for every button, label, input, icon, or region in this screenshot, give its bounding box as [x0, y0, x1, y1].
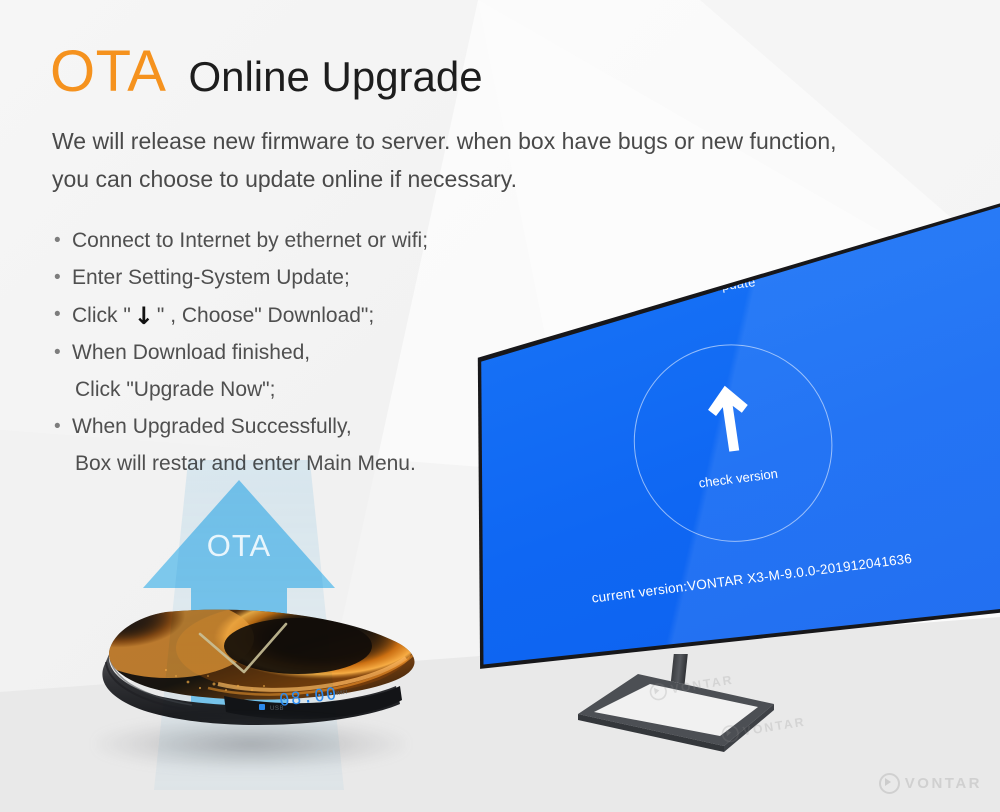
vontar-logo-icon: [720, 724, 740, 744]
system-update-heading: System Update: [460, 249, 958, 326]
bullet-dot: •: [54, 334, 72, 371]
page-title-rest: Online Upgrade: [188, 56, 482, 98]
list-item: • When Download finished, Click "Upgrade…: [54, 334, 524, 408]
list-item: • Connect to Internet by ethernet or wif…: [54, 222, 524, 259]
vontar-logo-icon: [879, 773, 900, 794]
current-version-text: current version:VONTAR X3-M-9.0.0-201912…: [503, 540, 1000, 617]
svg-text:WIFI: WIFI: [336, 690, 349, 697]
tv-box-device: USB 08:00 WIFI: [48, 600, 448, 790]
intro-line-1: We will release new firmware to server. …: [52, 122, 942, 160]
step-suffix: " , Choose" Download";: [157, 304, 374, 327]
tv-screen-content: System Update check version current vers…: [455, 196, 1000, 686]
page-title-accent: OTA: [50, 43, 166, 101]
steps-list: • Connect to Internet by ethernet or wif…: [54, 222, 524, 482]
device-shadow: [96, 718, 406, 770]
ota-arrow-label: OTA: [139, 528, 339, 564]
bullet-dot: •: [54, 408, 72, 445]
vontar-logo-icon: [648, 682, 668, 702]
step-line: Enter Setting-System Update;: [72, 266, 350, 289]
check-version-button[interactable]: check version: [621, 333, 846, 553]
up-arrow-icon: [703, 381, 757, 456]
step-line: Connect to Internet by ethernet or wifi;: [72, 229, 428, 252]
list-item: • Click "↓" , Choose" Download";: [54, 296, 524, 334]
tv-display: System Update check version current vers…: [455, 196, 1000, 686]
bullet-dot: •: [54, 222, 72, 259]
check-version-label: check version: [640, 459, 837, 498]
brand-watermark-text: VONTAR: [905, 775, 982, 792]
brand-watermark: VONTAR: [879, 773, 982, 794]
list-item: • Enter Setting-System Update;: [54, 259, 524, 296]
page-title: OTA Online Upgrade: [50, 43, 483, 101]
list-item: • When Upgraded Successfully, Box will r…: [54, 408, 524, 482]
ota-product-infographic: OTA Online Upgrade We will release new f…: [0, 0, 1000, 812]
bullet-dot: •: [54, 296, 72, 333]
intro-line-2: you can choose to update online if neces…: [52, 160, 942, 198]
bullet-dot: •: [54, 259, 72, 296]
step-prefix: Click ": [72, 304, 131, 327]
intro-paragraph: We will release new firmware to server. …: [52, 122, 942, 198]
download-arrow-icon: ↓: [131, 298, 157, 335]
